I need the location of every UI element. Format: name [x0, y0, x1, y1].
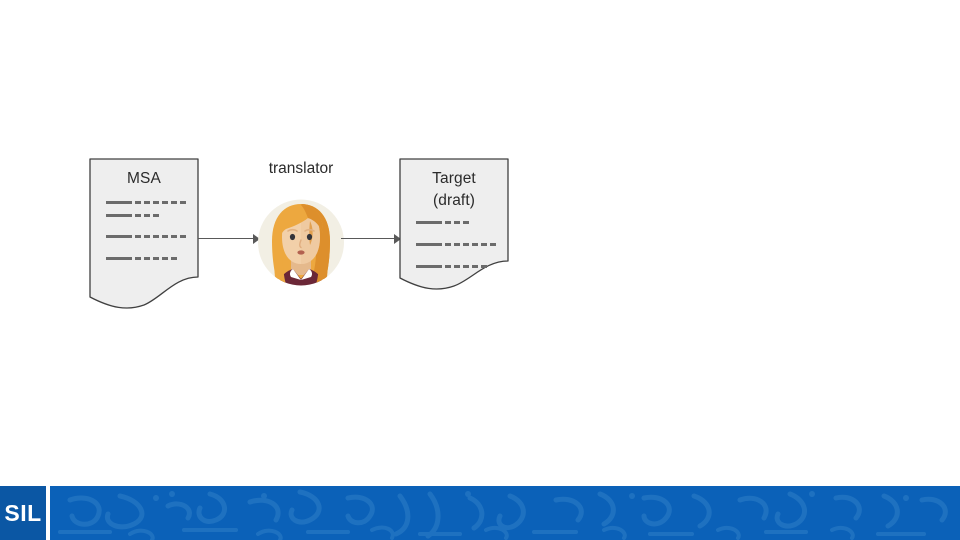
sil-logo-text: SIL — [0, 486, 46, 540]
sil-logo-divider — [46, 486, 50, 540]
translator-label: translator — [248, 160, 354, 178]
text-line — [106, 230, 185, 252]
target-document-draft[interactable]: Target (draft) — [399, 158, 509, 292]
target-document-title-line-1: Target — [399, 168, 509, 190]
slide-canvas: MSA — [0, 0, 960, 540]
text-line — [416, 216, 495, 238]
text-line — [106, 209, 185, 230]
text-line — [106, 252, 185, 274]
footer-band — [0, 486, 960, 540]
arrow-shaft — [341, 238, 395, 239]
source-document-text-lines — [106, 196, 185, 274]
target-document-title-line-2: (draft) — [399, 190, 509, 212]
arrow-translator-to-target — [341, 234, 401, 244]
source-document-msa[interactable]: MSA — [89, 158, 199, 312]
script-pattern-decoration-icon — [0, 486, 960, 540]
text-line — [106, 196, 185, 209]
arrow-shaft — [198, 238, 254, 239]
text-line — [416, 260, 495, 282]
person-avatar-icon — [258, 195, 344, 290]
footer-banner: SIL — [0, 486, 960, 540]
translator-node[interactable]: translator — [248, 160, 354, 292]
text-line — [416, 238, 495, 260]
source-document-title: MSA — [89, 168, 199, 190]
target-document-text-lines — [416, 216, 495, 282]
